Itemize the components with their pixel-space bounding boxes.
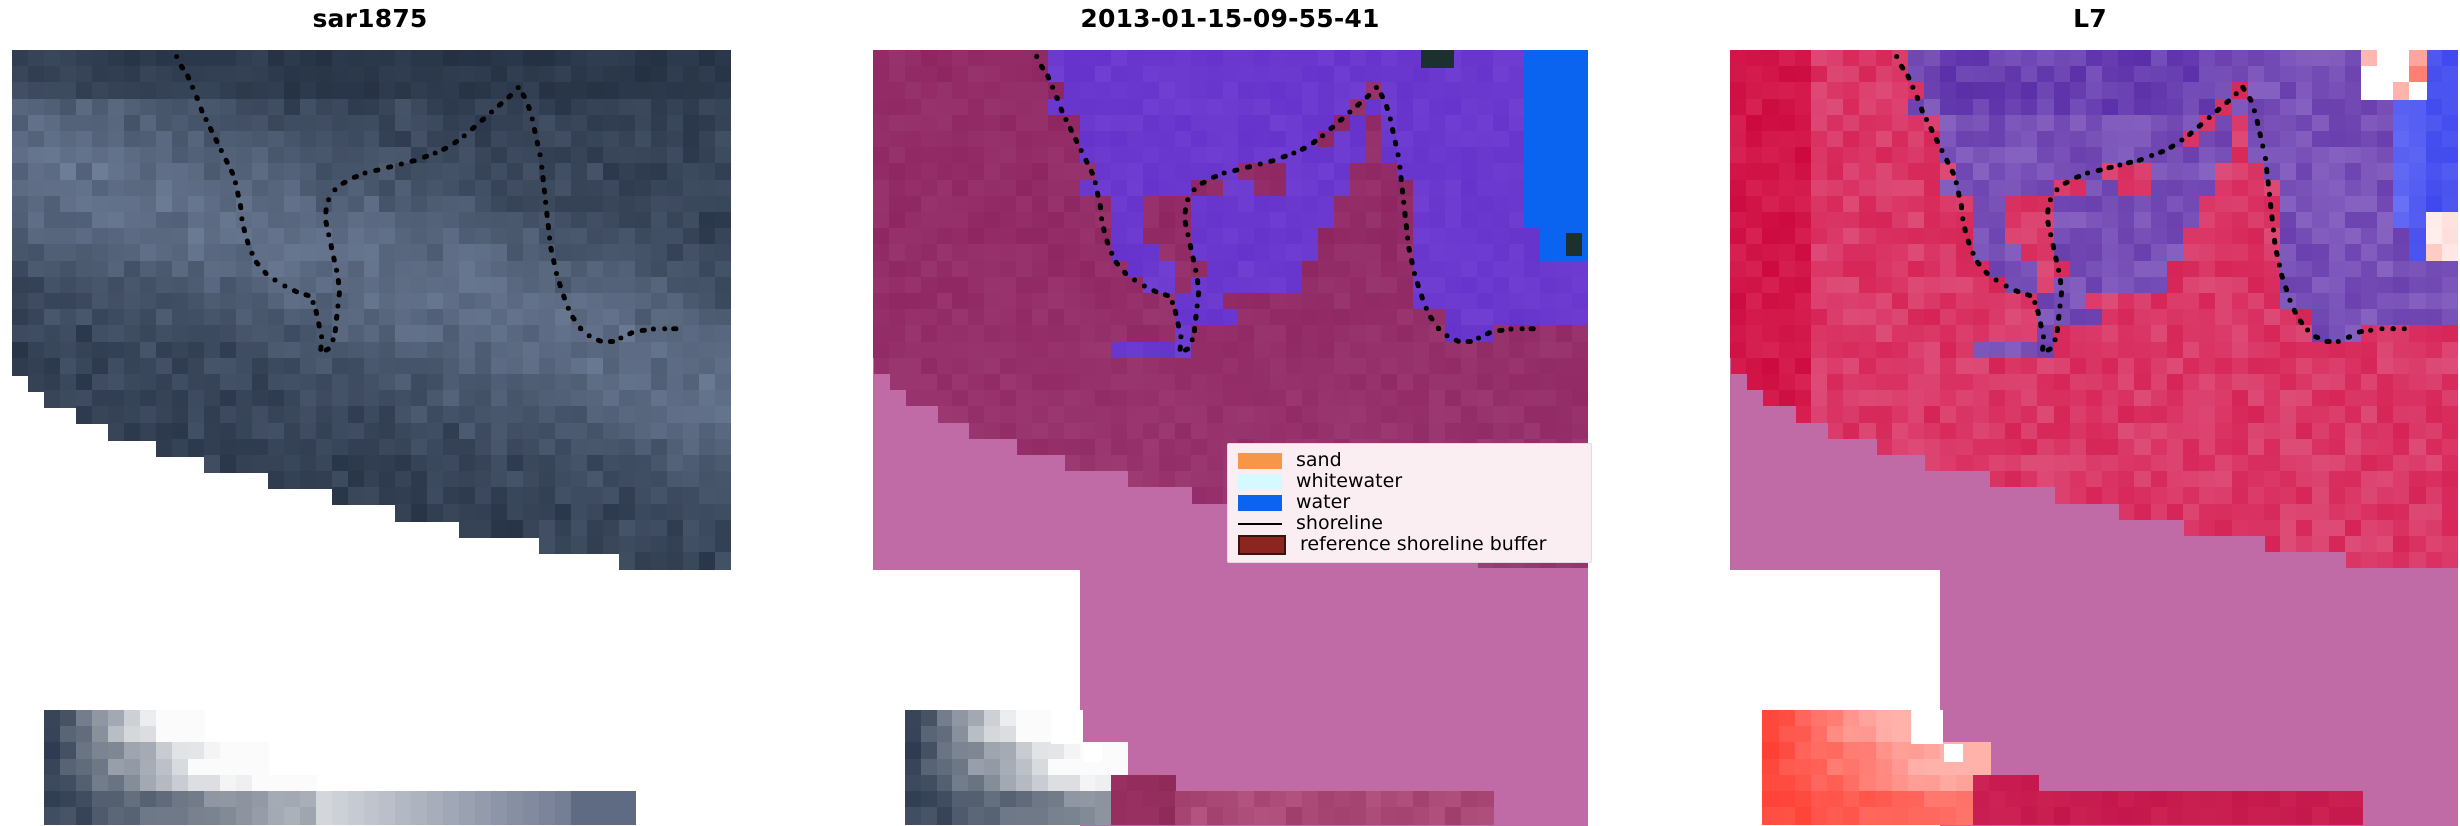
image-classification[interactable] xyxy=(873,50,1588,826)
legend-color-swatch xyxy=(1238,474,1282,490)
panel-title-sar: sar1875 xyxy=(0,4,740,34)
legend-line-swatch xyxy=(1238,523,1282,525)
image-sar[interactable] xyxy=(12,50,731,826)
axes-sar xyxy=(12,50,731,826)
legend-item-reference-shoreline-buffer: reference shoreline buffer xyxy=(1238,534,1583,555)
legend-label: whitewater xyxy=(1296,472,1402,491)
legend-color-swatch xyxy=(1238,535,1286,555)
figure-canvas: sar1875 2013-01-15-09-55-41 L7 sandwhite… xyxy=(0,0,2460,826)
panel-title-classification: 2013-01-15-09-55-41 xyxy=(860,4,1600,34)
legend-item-water: water xyxy=(1238,492,1583,513)
legend-label: sand xyxy=(1296,451,1342,470)
legend-item-sand: sand xyxy=(1238,450,1583,471)
panel-sar: sar1875 xyxy=(0,0,740,826)
legend-label: shoreline xyxy=(1296,514,1383,533)
legend: sandwhitewaterwatershorelinereference sh… xyxy=(1227,443,1592,563)
legend-item-whitewater: whitewater xyxy=(1238,471,1583,492)
legend-color-swatch xyxy=(1238,453,1282,469)
legend-item-shoreline: shoreline xyxy=(1238,513,1583,534)
panel-classification: 2013-01-15-09-55-41 xyxy=(860,0,1600,826)
legend-color-swatch xyxy=(1238,495,1282,511)
panel-title-l7: L7 xyxy=(1720,4,2460,34)
axes-l7 xyxy=(1730,50,2458,826)
legend-label: reference shoreline buffer xyxy=(1300,535,1546,554)
axes-classification xyxy=(873,50,1588,826)
legend-label: water xyxy=(1296,493,1350,512)
panel-l7: L7 xyxy=(1720,0,2460,826)
image-l7[interactable] xyxy=(1730,50,2458,826)
